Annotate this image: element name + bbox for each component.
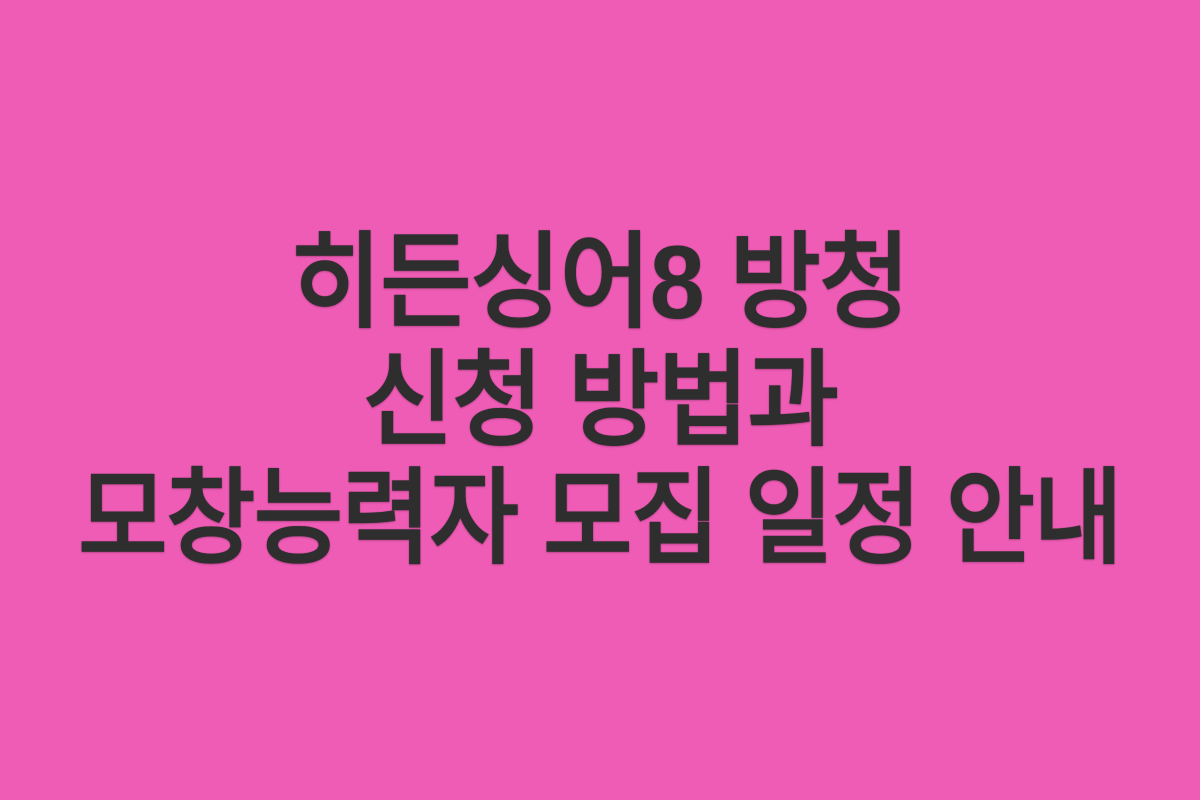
headline-block: 히든싱어8 방청 신청 방법과 모창능력자 모집 일정 안내 — [0, 224, 1200, 578]
headline-line-2: 신청 방법과 — [41, 342, 1158, 460]
headline-line-3: 모창능력자 모집 일정 안내 — [53, 460, 1147, 578]
headline-line-1: 히든싱어8 방청 — [41, 224, 1158, 342]
banner-canvas: 히든싱어8 방청 신청 방법과 모창능력자 모집 일정 안내 — [0, 0, 1200, 800]
